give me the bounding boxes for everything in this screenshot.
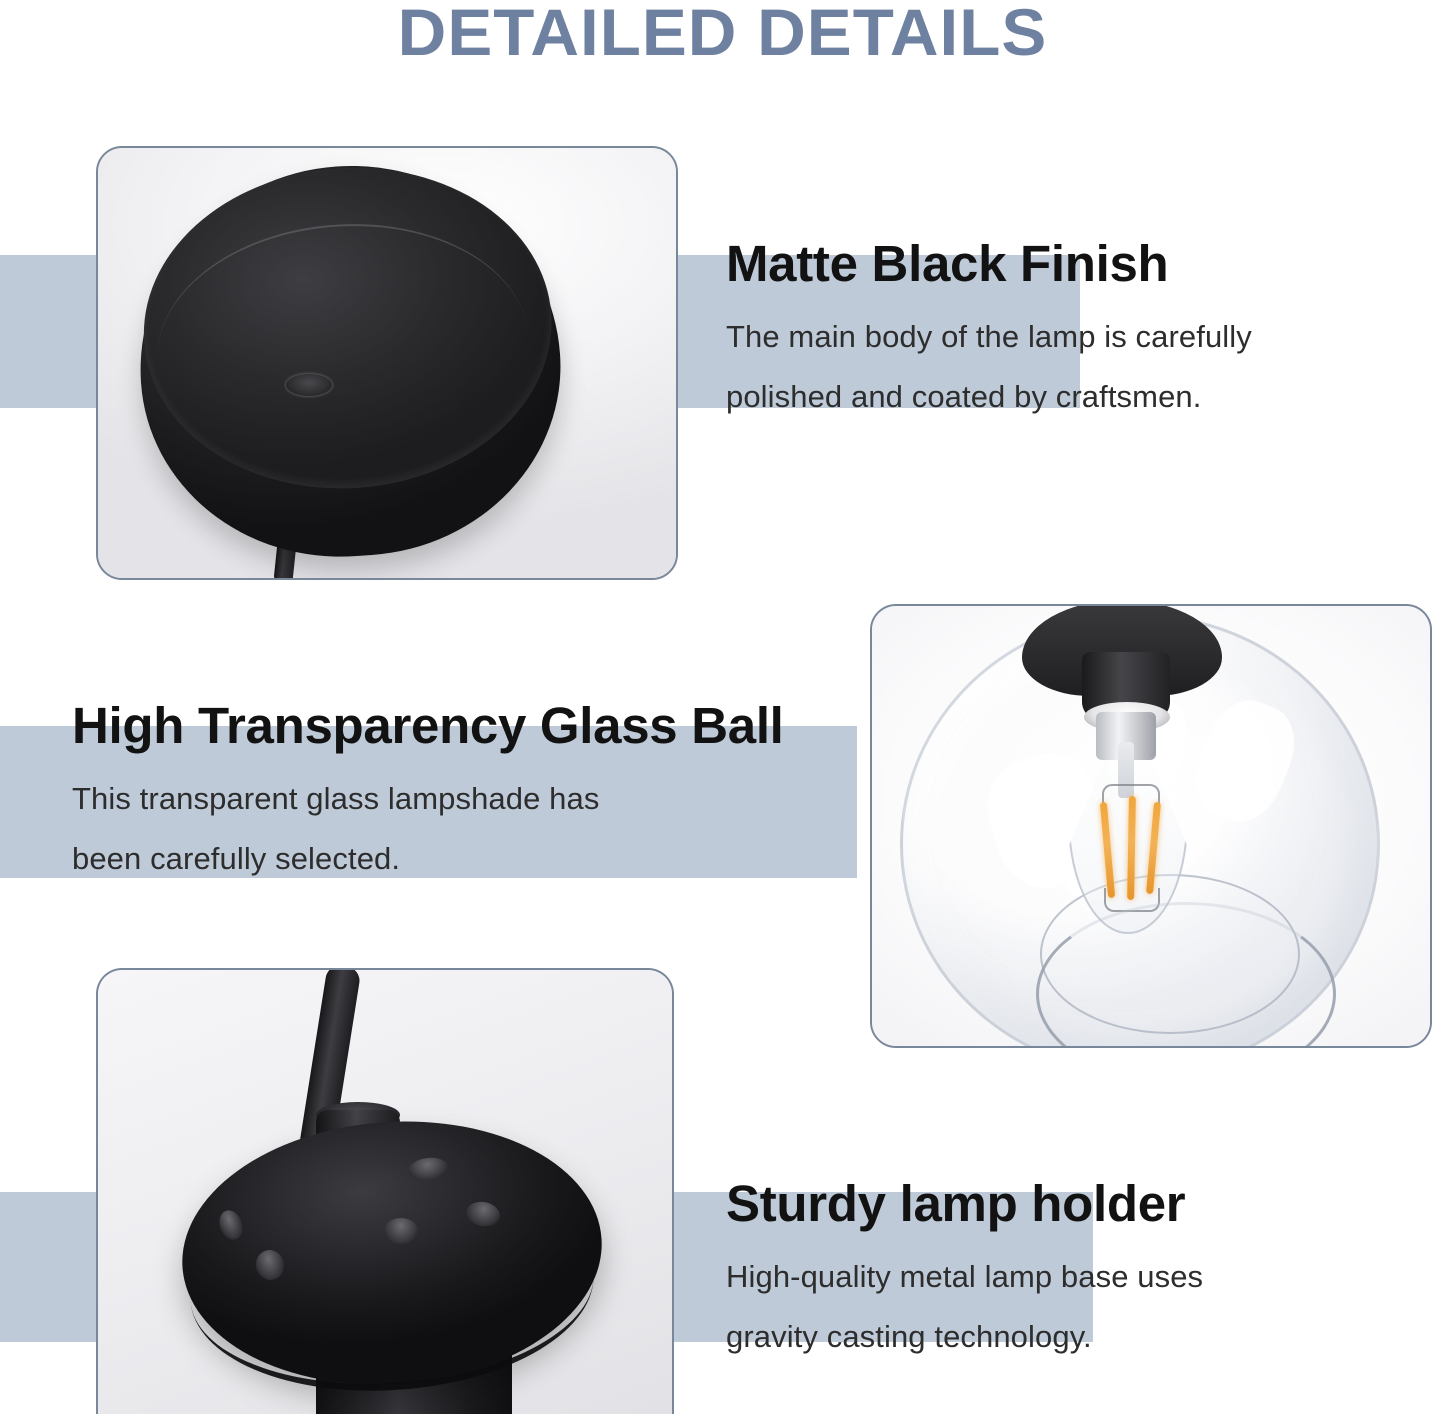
feature-body-line-1-a: The main body of the lamp is carefully bbox=[726, 307, 1426, 367]
photo-high-transparency-glass-ball bbox=[870, 604, 1432, 1048]
feature-body-line-2-b: been carefully selected. bbox=[72, 829, 872, 889]
lamp-holder-photo-content bbox=[98, 970, 672, 1414]
feature-body-line-1-b: This transparent glass lampshade has bbox=[72, 769, 872, 829]
feature-heading-3: Sturdy lamp holder bbox=[726, 1178, 1426, 1229]
feature-body-line-1-c: High-quality metal lamp base uses bbox=[726, 1247, 1426, 1307]
feature-block-high-transparency-glass-ball: High Transparency Glass Ball This transp… bbox=[72, 700, 872, 890]
feature-body-line-2-a: polished and coated by craftsmen. bbox=[726, 367, 1426, 427]
feature-block-sturdy-lamp-holder: Sturdy lamp holder High-quality metal la… bbox=[726, 1178, 1426, 1368]
canopy-photo-content bbox=[98, 148, 676, 578]
photo-matte-black-finish bbox=[96, 146, 678, 580]
feature-block-matte-black-finish: Matte Black Finish The main body of the … bbox=[726, 238, 1426, 428]
canopy-hub bbox=[286, 374, 332, 396]
page-title: DETAILED DETAILS bbox=[0, 0, 1445, 70]
vent-hole-3 bbox=[384, 1218, 418, 1244]
feature-body-line-2-c: gravity casting technology. bbox=[726, 1307, 1426, 1367]
feature-heading-2: High Transparency Glass Ball bbox=[72, 700, 872, 751]
feature-heading-1: Matte Black Finish bbox=[726, 238, 1426, 289]
photo-sturdy-lamp-holder bbox=[96, 968, 674, 1414]
infographic-page: DETAILED DETAILS bbox=[0, 0, 1445, 1414]
glass-ball-photo-content bbox=[872, 606, 1430, 1046]
